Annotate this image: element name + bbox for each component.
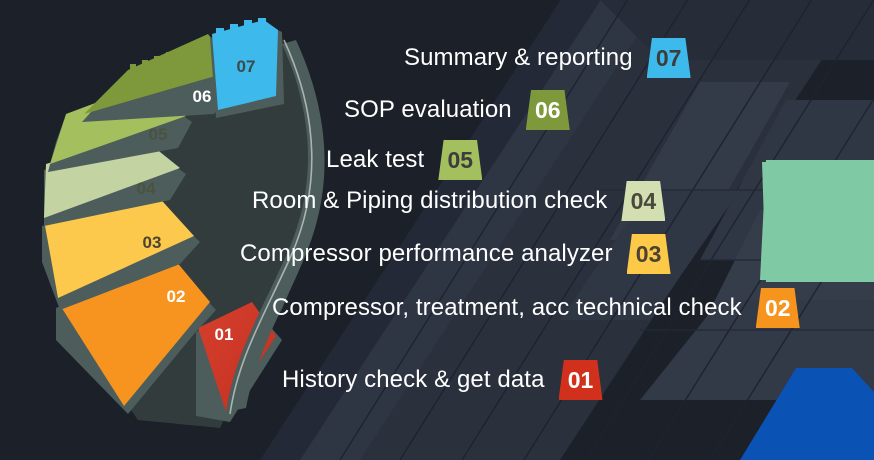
step-row-01[interactable]: History check & get data 01 [282,360,603,400]
step-label-07: Summary & reporting [404,46,633,70]
step-badge-02[interactable]: 02 [756,288,800,328]
step-row-05[interactable]: Leak test 05 [326,140,482,180]
step-badge-06[interactable]: 06 [526,90,570,130]
step-label-list: Summary & reporting 07 SOP evaluation 06… [0,0,874,460]
infographic-slide: 07 06 05 04 03 02 01 Summary & reporting… [0,0,874,460]
badge-number-01: 01 [568,369,594,392]
step-label-06: SOP evaluation [344,98,512,122]
step-badge-07[interactable]: 07 [647,38,691,78]
step-badge-04[interactable]: 04 [621,181,665,221]
badge-number-07: 07 [656,47,682,70]
step-badge-03[interactable]: 03 [627,234,671,274]
step-row-02[interactable]: Compressor, treatment, acc technical che… [272,288,800,328]
step-label-05: Leak test [326,148,424,172]
step-badge-01[interactable]: 01 [559,360,603,400]
badge-number-04: 04 [631,190,657,213]
badge-number-02: 02 [765,297,791,320]
badge-number-06: 06 [535,99,561,122]
badge-number-03: 03 [636,243,662,266]
step-label-02: Compressor, treatment, acc technical che… [272,296,742,320]
step-label-01: History check & get data [282,368,545,392]
step-row-07[interactable]: Summary & reporting 07 [404,38,691,78]
step-badge-05[interactable]: 05 [438,140,482,180]
badge-number-05: 05 [448,149,474,172]
step-row-03[interactable]: Compressor performance analyzer 03 [240,234,671,274]
step-row-04[interactable]: Room & Piping distribution check 04 [252,181,665,221]
step-row-06[interactable]: SOP evaluation 06 [344,90,570,130]
step-label-04: Room & Piping distribution check [252,189,607,213]
step-label-03: Compressor performance analyzer [240,242,613,266]
